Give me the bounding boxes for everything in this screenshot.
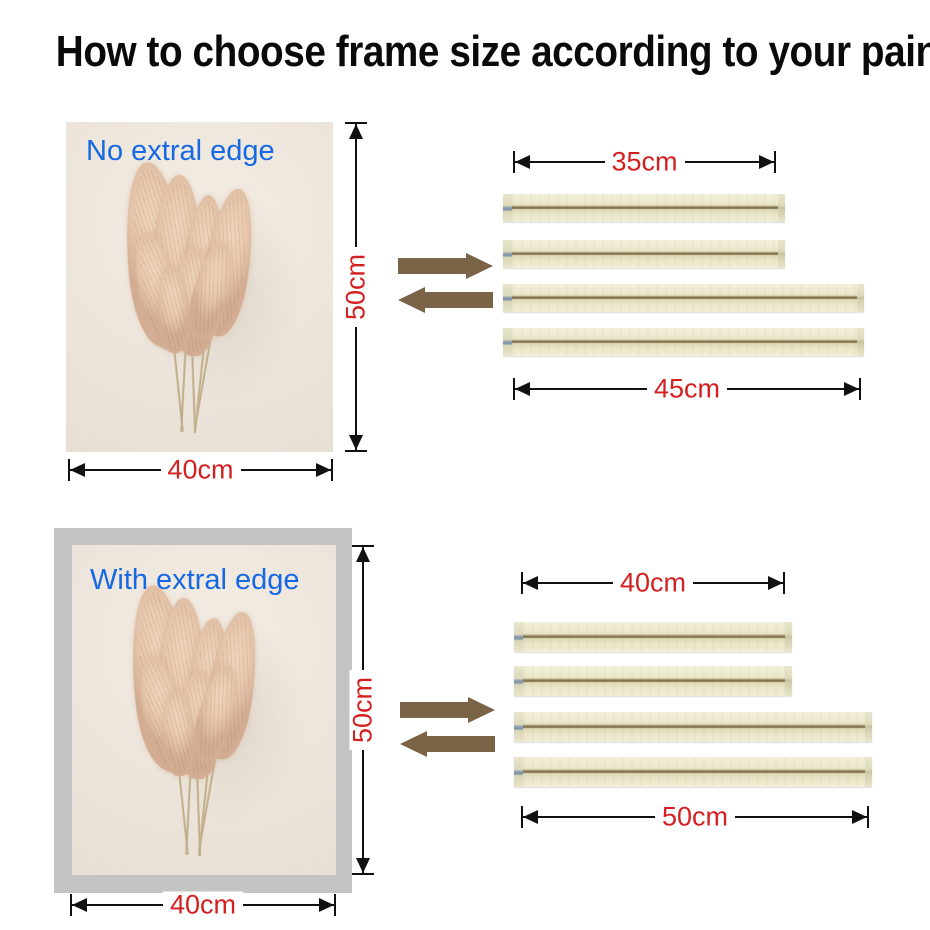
frame-bar (503, 194, 785, 222)
dimension-width-with-extra-edge: 40cm (70, 894, 336, 916)
painting-with-extra-edge: With extral edge (72, 545, 336, 875)
dimension-height-label: 50cm (343, 247, 370, 327)
dimension-long-bar-section-2: 50cm (521, 806, 869, 828)
left-arrow-icon (398, 287, 493, 313)
painting-no-extra-edge: No extral edge (66, 122, 333, 452)
dimension-short-bar-label: 35cm (604, 149, 684, 176)
dimension-width-label: 40cm (160, 457, 240, 484)
dimension-width-no-extra-edge: 40cm (68, 459, 333, 481)
frame-bar (514, 622, 792, 652)
dimension-width-label: 40cm (163, 892, 243, 919)
exchange-arrows-section-1 (398, 253, 498, 323)
dimension-short-bar-label: 40cm (613, 570, 693, 597)
dimension-short-bar-section-1: 35cm (513, 151, 776, 173)
page-title: How to choose frame size according to yo… (56, 26, 874, 78)
exchange-arrows-section-2 (400, 697, 500, 767)
frame-bar (514, 757, 872, 787)
frame-bar (514, 712, 872, 742)
frame-bar (503, 284, 864, 312)
dimension-long-bar-label: 50cm (655, 804, 735, 831)
dimension-height-no-extra-edge: 50cm (345, 122, 367, 452)
pampas-bouquet (66, 122, 333, 452)
caption-with-extra-edge: With extral edge (90, 565, 300, 595)
right-arrow-icon (400, 697, 495, 723)
caption-no-extra-edge: No extral edge (86, 136, 275, 166)
frame-bar (514, 666, 792, 696)
frame-bar (503, 328, 864, 356)
dimension-long-bar-label: 45cm (647, 376, 727, 403)
left-arrow-icon (400, 731, 495, 757)
dimension-short-bar-section-2: 40cm (521, 572, 785, 594)
dimension-height-label: 50cm (350, 670, 377, 750)
dimension-height-with-extra-edge: 50cm (352, 545, 374, 875)
right-arrow-icon (398, 253, 493, 279)
infographic-canvas: How to choose frame size according to yo… (0, 0, 930, 930)
frame-bar (503, 240, 785, 268)
dimension-long-bar-section-1: 45cm (513, 378, 861, 400)
